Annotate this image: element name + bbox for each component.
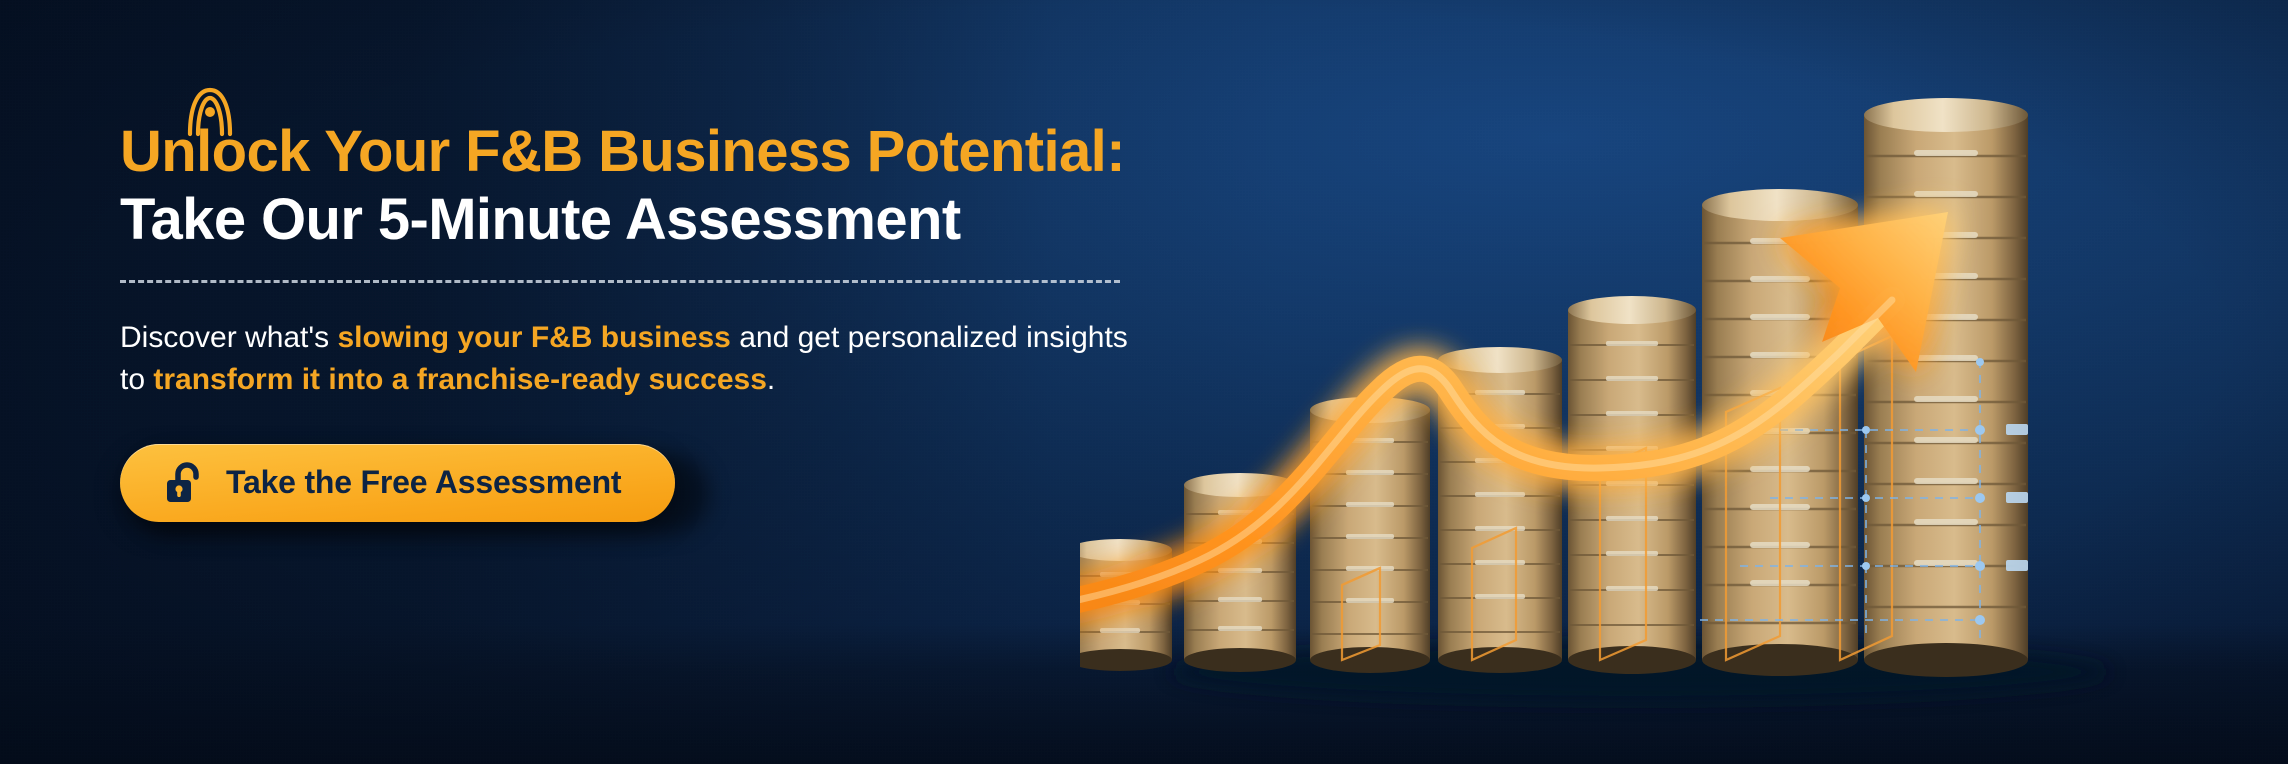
unlock-padlock-icon xyxy=(164,461,204,505)
subcopy-part-1: Discover what's xyxy=(120,321,337,354)
banner-copy: Unlock Your F&B Business Potential: Take… xyxy=(120,118,1140,526)
headline-line-2: Take Our 5-Minute Assessment xyxy=(120,186,1140,254)
cta-container: Take the Free Assessment xyxy=(120,444,695,526)
subcopy-highlight-2: transform it into a franchise-ready succ… xyxy=(153,363,767,396)
cta-label: Take the Free Assessment xyxy=(226,464,621,501)
cup-stack-7 xyxy=(1864,98,2028,677)
dashed-divider xyxy=(120,280,1120,283)
growth-chart-artwork xyxy=(1080,0,2288,764)
subcopy: Discover what's slowing your F&B busines… xyxy=(120,317,1130,402)
promo-banner: Unlock Your F&B Business Potential: Take… xyxy=(0,0,2288,764)
headline-line-1: Unlock Your F&B Business Potential: xyxy=(120,118,1140,186)
page-title: Unlock Your F&B Business Potential: Take… xyxy=(120,118,1140,254)
subcopy-part-3: . xyxy=(767,363,775,396)
cup-stack-5 xyxy=(1568,296,1696,674)
subcopy-highlight-1: slowing your F&B business xyxy=(337,321,730,354)
take-the-free-assessment-button[interactable]: Take the Free Assessment xyxy=(120,444,675,522)
